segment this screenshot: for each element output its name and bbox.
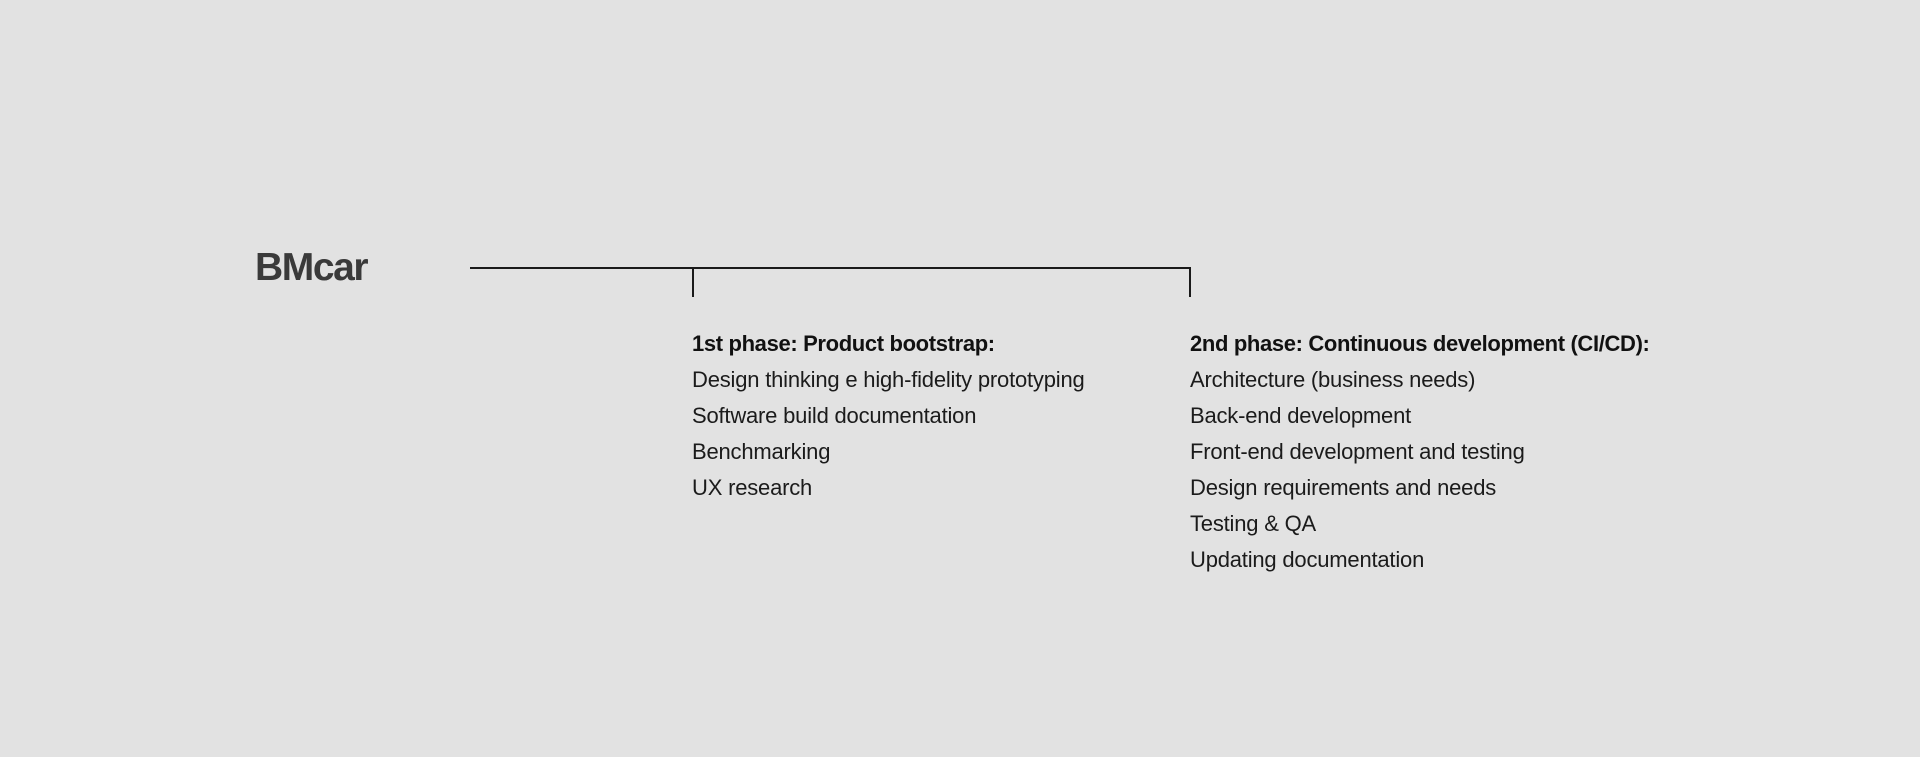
list-item: Front-end development and testing xyxy=(1190,434,1710,470)
connector-horizontal-trunk xyxy=(470,267,1191,269)
phase-column-1: 1st phase: Product bootstrap: Design thi… xyxy=(692,326,1162,506)
root-node-label: BMcar xyxy=(255,248,367,287)
phase-1-title: 1st phase: Product bootstrap: xyxy=(692,326,1162,362)
list-item: Design requirements and needs xyxy=(1190,470,1710,506)
root-node: BMcar xyxy=(255,242,367,292)
phase-column-2: 2nd phase: Continuous development (CI/CD… xyxy=(1190,326,1710,578)
list-item: Design thinking e high-fidelity prototyp… xyxy=(692,362,1162,398)
list-item: Testing & QA xyxy=(1190,506,1710,542)
phase-2-title: 2nd phase: Continuous development (CI/CD… xyxy=(1190,326,1710,362)
connector-drop-phase-1 xyxy=(692,267,694,297)
list-item: Back-end development xyxy=(1190,398,1710,434)
phase-1-list: Design thinking e high-fidelity prototyp… xyxy=(692,362,1162,506)
list-item: Updating documentation xyxy=(1190,542,1710,578)
list-item: Benchmarking xyxy=(692,434,1162,470)
phase-2-list: Architecture (business needs) Back-end d… xyxy=(1190,362,1710,578)
list-item: Software build documentation xyxy=(692,398,1162,434)
list-item: UX research xyxy=(692,470,1162,506)
diagram-canvas: BMcar 1st phase: Product bootstrap: Desi… xyxy=(0,0,1920,757)
connector-drop-phase-2 xyxy=(1189,267,1191,297)
list-item: Architecture (business needs) xyxy=(1190,362,1710,398)
